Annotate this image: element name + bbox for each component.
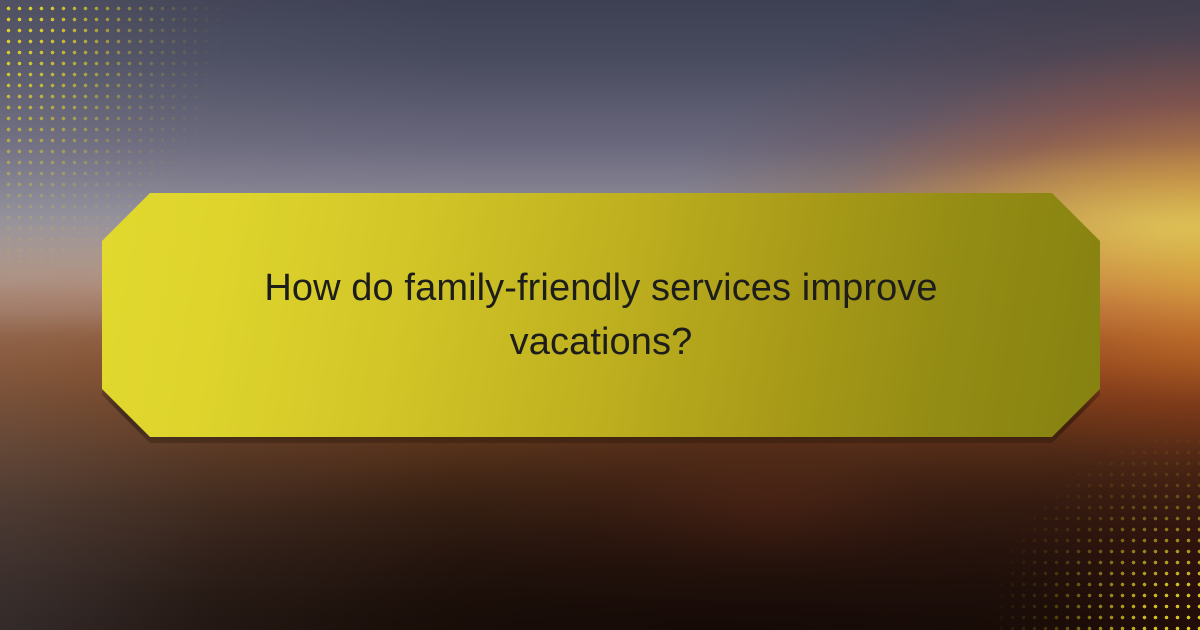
question-card-canvas: How do family-friendly services improve … <box>0 0 1200 630</box>
question-card[interactable]: How do family-friendly services improve … <box>102 193 1100 437</box>
question-title: How do family-friendly services improve … <box>181 261 1021 369</box>
question-card-content: How do family-friendly services improve … <box>181 261 1021 369</box>
